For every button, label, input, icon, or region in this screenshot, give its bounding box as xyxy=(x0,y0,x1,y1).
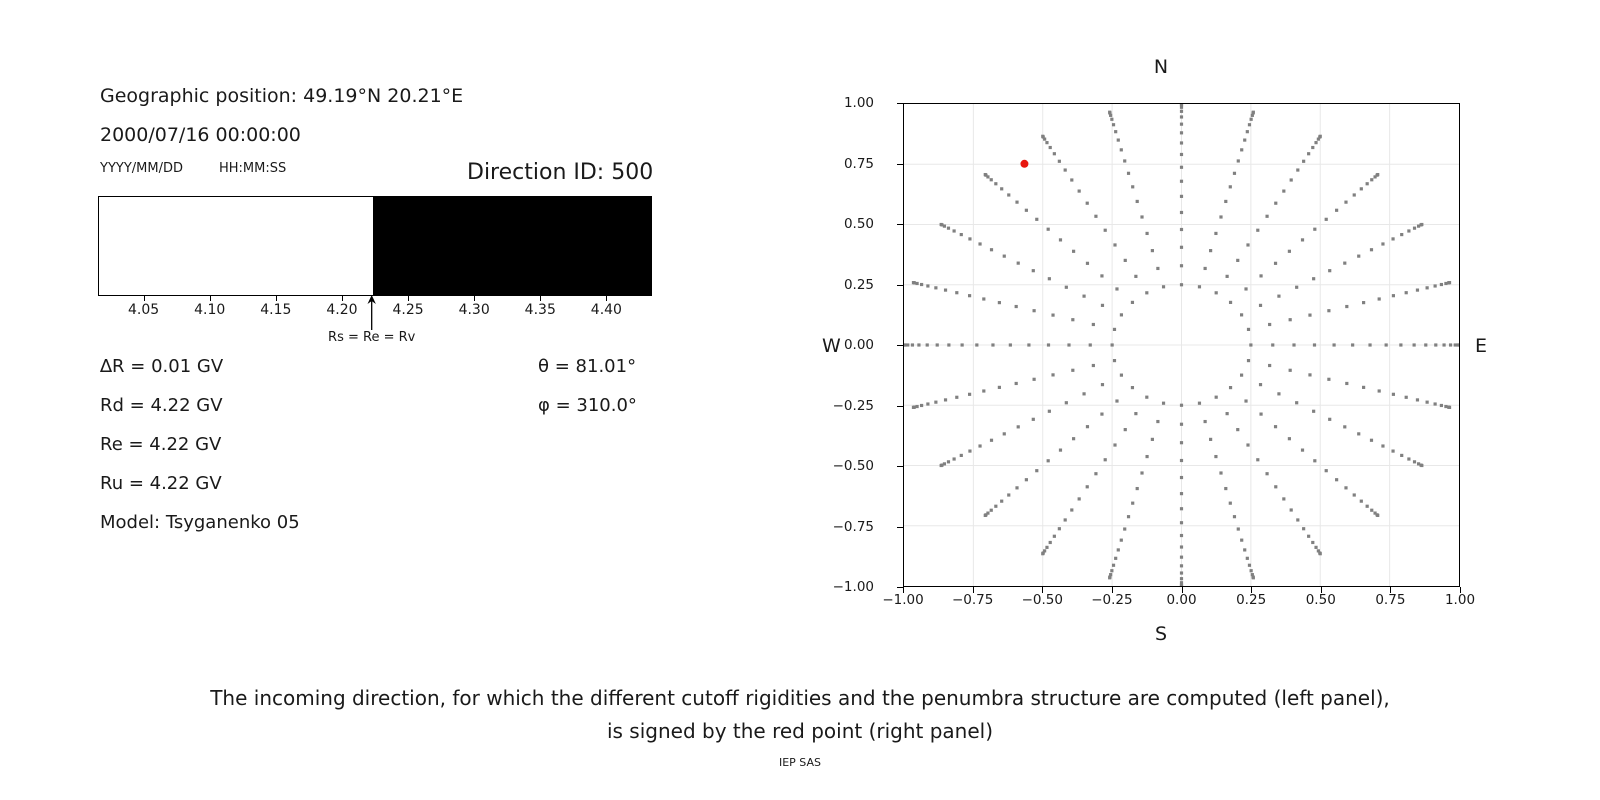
selected-direction-point xyxy=(1020,160,1028,168)
rigidity-value-row: Re = 4.22 GV xyxy=(100,434,221,455)
penumbra-tick-label: 4.25 xyxy=(392,302,423,318)
compass-label-south: S xyxy=(1155,623,1167,645)
cutoff-arrow-caption: Rs = Re = Rv xyxy=(328,330,415,345)
angle-value-row: θ = 81.01° xyxy=(538,356,636,377)
x-axis-tick-label: 0.75 xyxy=(1375,592,1405,608)
geographic-position: Geographic position: 49.19°N 20.21°E xyxy=(100,85,463,107)
angle-value-row: φ = 310.0° xyxy=(538,395,637,416)
y-axis-tick-label: 0.00 xyxy=(844,337,874,353)
penumbra-forbidden-region xyxy=(373,197,652,295)
penumbra-tick-label: 4.30 xyxy=(459,302,490,318)
penumbra-tick-label: 4.40 xyxy=(591,302,622,318)
x-axis-tick-label: 0.50 xyxy=(1306,592,1336,608)
caption-line-1: The incoming direction, for which the di… xyxy=(0,682,1600,715)
penumbra-tick-label: 4.05 xyxy=(128,302,159,318)
x-axis-tick-label: −0.50 xyxy=(1022,592,1063,608)
compass-label-west: W xyxy=(822,335,841,357)
date-format-label: YYYY/MM/DD xyxy=(100,161,183,176)
penumbra-tick-label: 4.35 xyxy=(525,302,556,318)
penumbra-tick xyxy=(408,296,409,301)
figure-caption: The incoming direction, for which the di… xyxy=(0,682,1600,748)
scatter-canvas xyxy=(904,104,1459,586)
compass-label-east: E xyxy=(1475,335,1487,357)
rigidity-value-row: Rd = 4.22 GV xyxy=(100,395,223,416)
datetime-value: 2000/07/16 00:00:00 xyxy=(100,124,301,146)
penumbra-tick xyxy=(606,296,607,301)
y-axis-tick-label: 0.50 xyxy=(844,216,874,232)
x-axis-tick-label: −1.00 xyxy=(882,592,923,608)
penumbra-tick xyxy=(342,296,343,301)
penumbra-tick-label: 4.10 xyxy=(194,302,225,318)
compass-label-north: N xyxy=(1154,56,1168,78)
x-axis-tick-label: 0.25 xyxy=(1236,592,1266,608)
time-format-label: HH:MM:SS xyxy=(219,161,286,176)
x-axis-tick-label: 1.00 xyxy=(1445,592,1475,608)
x-axis-tick-label: −0.75 xyxy=(952,592,993,608)
left-panel: Geographic position: 49.19°N 20.21°E 200… xyxy=(0,0,760,660)
y-axis-tick-label: 1.00 xyxy=(844,95,874,111)
y-axis-tick-label: −0.75 xyxy=(833,519,874,535)
penumbra-bar xyxy=(98,196,652,296)
penumbra-tick-label: 4.20 xyxy=(326,302,357,318)
penumbra-plot xyxy=(98,196,652,296)
penumbra-tick xyxy=(540,296,541,301)
direction-scatter-plot xyxy=(903,103,1460,587)
x-axis-tick-label: 0.00 xyxy=(1166,592,1196,608)
penumbra-tick xyxy=(276,296,277,301)
rigidity-value-row: Model: Tsyganenko 05 xyxy=(100,512,300,533)
right-panel: N S W E −1.00−0.75−0.50−0.250.000.250.50… xyxy=(820,40,1520,660)
y-axis-tick-label: −1.00 xyxy=(833,579,874,595)
caption-line-2: is signed by the red point (right panel) xyxy=(0,715,1600,748)
y-axis-tick-label: 0.25 xyxy=(844,277,874,293)
penumbra-tick xyxy=(144,296,145,301)
footer-credit: IEP SAS xyxy=(0,756,1600,769)
rigidity-value-row: ∆R = 0.01 GV xyxy=(100,356,223,377)
penumbra-tick xyxy=(210,296,211,301)
x-axis-tick-label: −0.25 xyxy=(1091,592,1132,608)
direction-id-label: Direction ID: 500 xyxy=(467,160,653,185)
penumbra-tick-label: 4.15 xyxy=(260,302,291,318)
y-axis-tick-label: 0.75 xyxy=(844,156,874,172)
penumbra-tick xyxy=(474,296,475,301)
y-axis-tick-label: −0.25 xyxy=(833,398,874,414)
rigidity-value-row: Ru = 4.22 GV xyxy=(100,473,222,494)
y-axis-tick-label: −0.50 xyxy=(833,458,874,474)
